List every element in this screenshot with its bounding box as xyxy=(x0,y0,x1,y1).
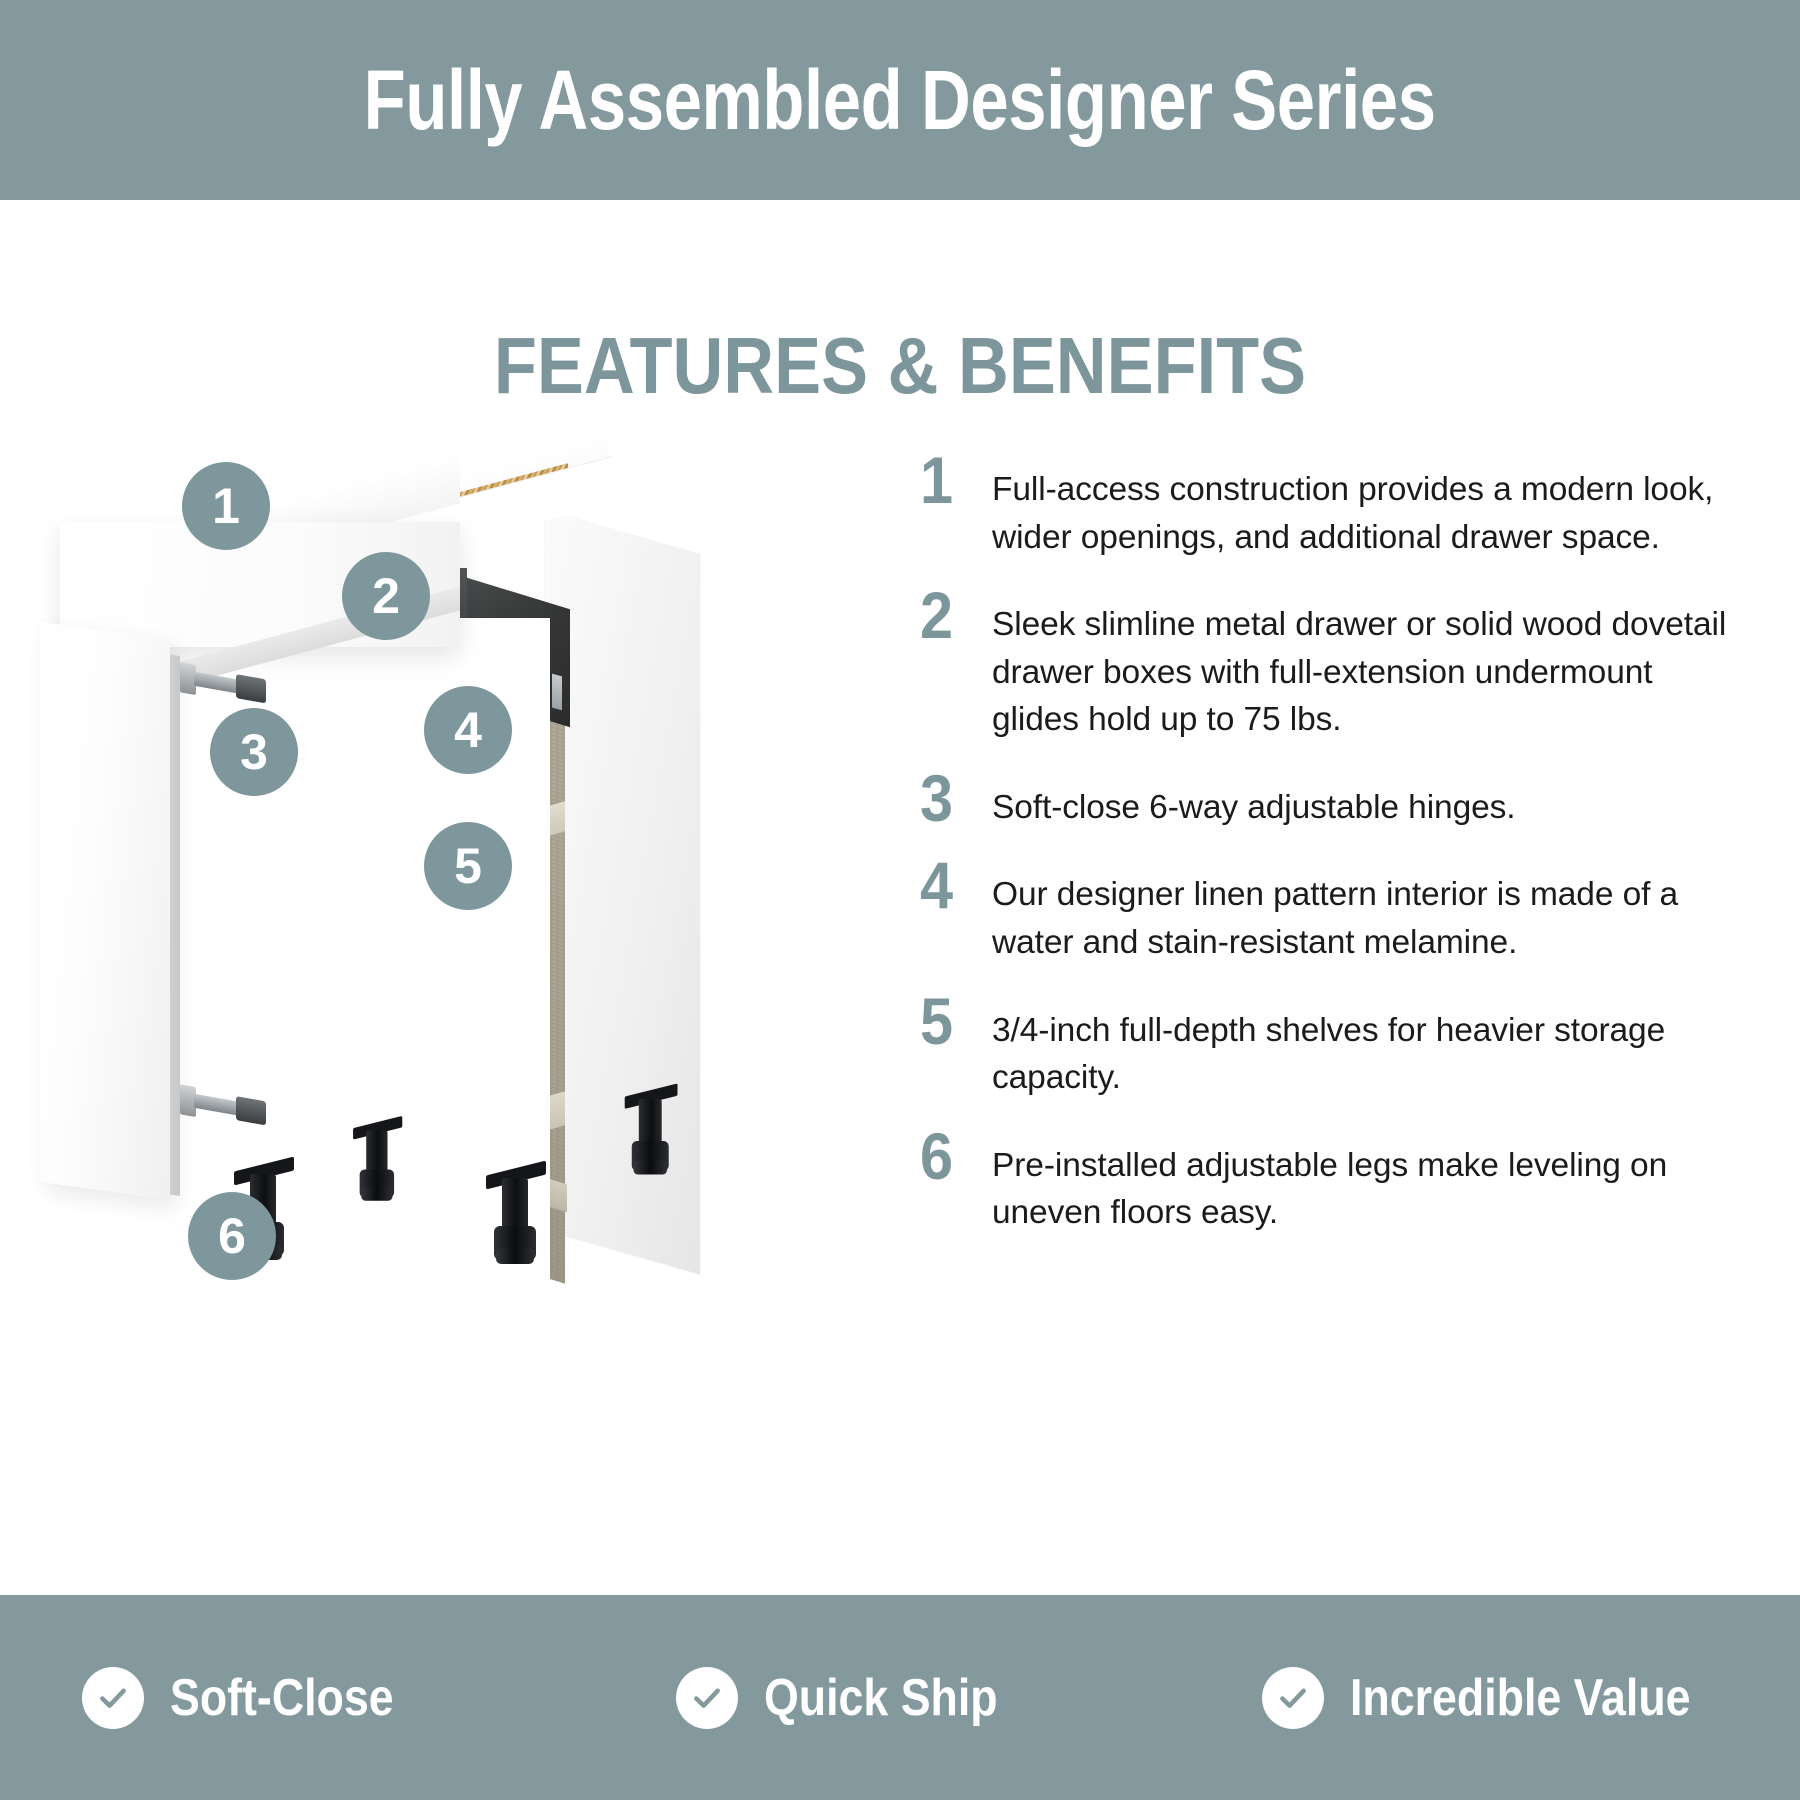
hinge-cup xyxy=(236,1096,266,1125)
feature-text-4: Our designer linen pattern interior is m… xyxy=(992,855,1740,966)
product-illustration: 1 2 3 4 5 6 xyxy=(40,450,840,1450)
hinge-cup xyxy=(236,674,266,703)
feature-item-3: 3 Soft-close 6-way adjustable hinges. xyxy=(920,768,1740,832)
leg-foot-base xyxy=(361,1188,392,1201)
content-body: 1 2 3 4 5 6 1 Full-access construction p… xyxy=(0,440,1800,1560)
feature-item-2: 2 Sleek slimline metal drawer or solid w… xyxy=(920,585,1740,744)
feature-item-5: 5 3/4-inch full-depth shelves for heavie… xyxy=(920,991,1740,1102)
feature-item-6: 6 Pre-installed adjustable legs make lev… xyxy=(920,1126,1740,1237)
footer-badge-quick-ship: Quick Ship xyxy=(676,1667,1036,1729)
feature-number-3: 3 xyxy=(920,768,985,829)
footer-label-quick-ship: Quick Ship xyxy=(764,1668,998,1728)
feature-item-1: 1 Full-access construction provides a mo… xyxy=(920,450,1740,561)
feature-text-2: Sleek slimline metal drawer or solid woo… xyxy=(992,585,1740,744)
features-list: 1 Full-access construction provides a mo… xyxy=(920,450,1740,1261)
hinge-arm xyxy=(194,1094,242,1116)
feature-text-3: Soft-close 6-way adjustable hinges. xyxy=(992,768,1740,832)
feature-number-6: 6 xyxy=(920,1126,985,1187)
footer-badge-soft-close: Soft-Close xyxy=(82,1667,430,1729)
hinge-arm xyxy=(194,672,242,694)
feature-number-5: 5 xyxy=(920,991,985,1052)
cabinet-door-panel xyxy=(40,622,170,1200)
callout-badge-5: 5 xyxy=(424,822,512,910)
feature-number-4: 4 xyxy=(920,855,985,916)
leg-foot-base xyxy=(634,1160,667,1174)
callout-badge-2: 2 xyxy=(342,552,430,640)
page-title: Fully Assembled Designer Series xyxy=(364,52,1436,149)
footer-label-incredible-value: Incredible Value xyxy=(1350,1668,1691,1728)
page-header: Fully Assembled Designer Series xyxy=(0,0,1800,200)
check-circle-icon xyxy=(676,1667,738,1729)
leg-foot-base xyxy=(496,1248,534,1264)
feature-item-4: 4 Our designer linen pattern interior is… xyxy=(920,855,1740,966)
footer-label-soft-close: Soft-Close xyxy=(170,1668,394,1728)
feature-text-6: Pre-installed adjustable legs make level… xyxy=(992,1126,1740,1237)
feature-number-1: 1 xyxy=(920,450,985,511)
feature-text-1: Full-access construction provides a mode… xyxy=(992,450,1740,561)
feature-number-2: 2 xyxy=(920,585,985,646)
callout-badge-3: 3 xyxy=(210,708,298,796)
page-footer: Soft-Close Quick Ship Incredible Value xyxy=(0,1595,1800,1800)
undermount-glide xyxy=(552,674,562,711)
footer-badge-incredible-value: Incredible Value xyxy=(1262,1667,1746,1729)
check-circle-icon xyxy=(1262,1667,1324,1729)
callout-badge-6: 6 xyxy=(188,1192,276,1280)
section-heading: FEATURES & BENEFITS xyxy=(108,320,1692,412)
feature-text-5: 3/4-inch full-depth shelves for heavier … xyxy=(992,991,1740,1102)
callout-badge-4: 4 xyxy=(424,686,512,774)
check-circle-icon xyxy=(82,1667,144,1729)
callout-badge-1: 1 xyxy=(182,462,270,550)
